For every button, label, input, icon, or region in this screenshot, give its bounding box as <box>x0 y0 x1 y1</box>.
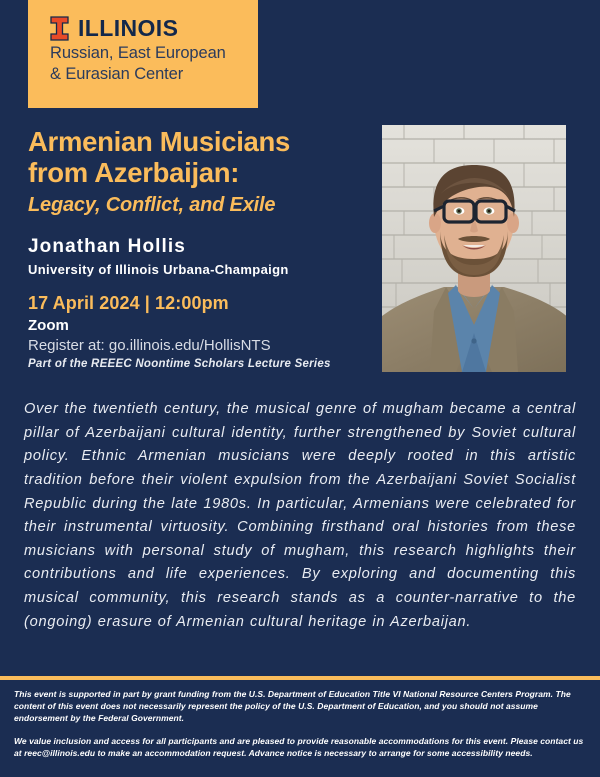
speaker-photo <box>382 125 566 372</box>
speaker-name: Jonathan Hollis <box>28 236 368 259</box>
event-datetime: 17 April 2024 | 12:00pm <box>28 292 368 315</box>
speaker-photo-illustration <box>382 125 566 372</box>
accessibility-notice: We value inclusion and access for all pa… <box>14 735 586 759</box>
speaker-affiliation: University of Illinois Urbana-Champaign <box>28 262 368 279</box>
event-venue: Zoom <box>28 316 368 336</box>
center-name-line-1: Russian, East European <box>50 43 258 64</box>
event-title-line-1: Armenian Musicians <box>28 126 368 157</box>
registration-link[interactable]: Register at: go.illinois.edu/HollisNTS <box>28 336 368 356</box>
illinois-block-i-icon <box>50 16 69 41</box>
illinois-wordmark: ILLINOIS <box>50 16 258 41</box>
event-title-block: Armenian Musicians from Azerbaijan: Lega… <box>28 126 368 217</box>
event-subtitle: Legacy, Conflict, and Exile <box>28 193 368 217</box>
event-title: Armenian Musicians from Azerbaijan: <box>28 126 368 189</box>
center-name-line-2: & Eurasian Center <box>50 64 258 85</box>
lecture-series-label: Part of the REEEC Noontime Scholars Lect… <box>28 358 331 370</box>
footer-block: This event is supported in part by grant… <box>14 688 586 759</box>
institution-name: ILLINOIS <box>78 17 178 40</box>
speaker-block: Jonathan Hollis University of Illinois U… <box>28 236 368 279</box>
center-name: Russian, East European & Eurasian Center <box>50 43 258 85</box>
funding-disclaimer: This event is supported in part by grant… <box>14 688 586 724</box>
event-details-block: 17 April 2024 | 12:00pm Zoom Register at… <box>28 292 368 356</box>
abstract-text: Over the twentieth century, the musical … <box>24 398 576 634</box>
institution-logo-box: ILLINOIS Russian, East European & Eurasi… <box>28 0 258 108</box>
event-title-line-2: from Azerbaijan: <box>28 157 368 188</box>
footer-divider <box>0 676 600 680</box>
